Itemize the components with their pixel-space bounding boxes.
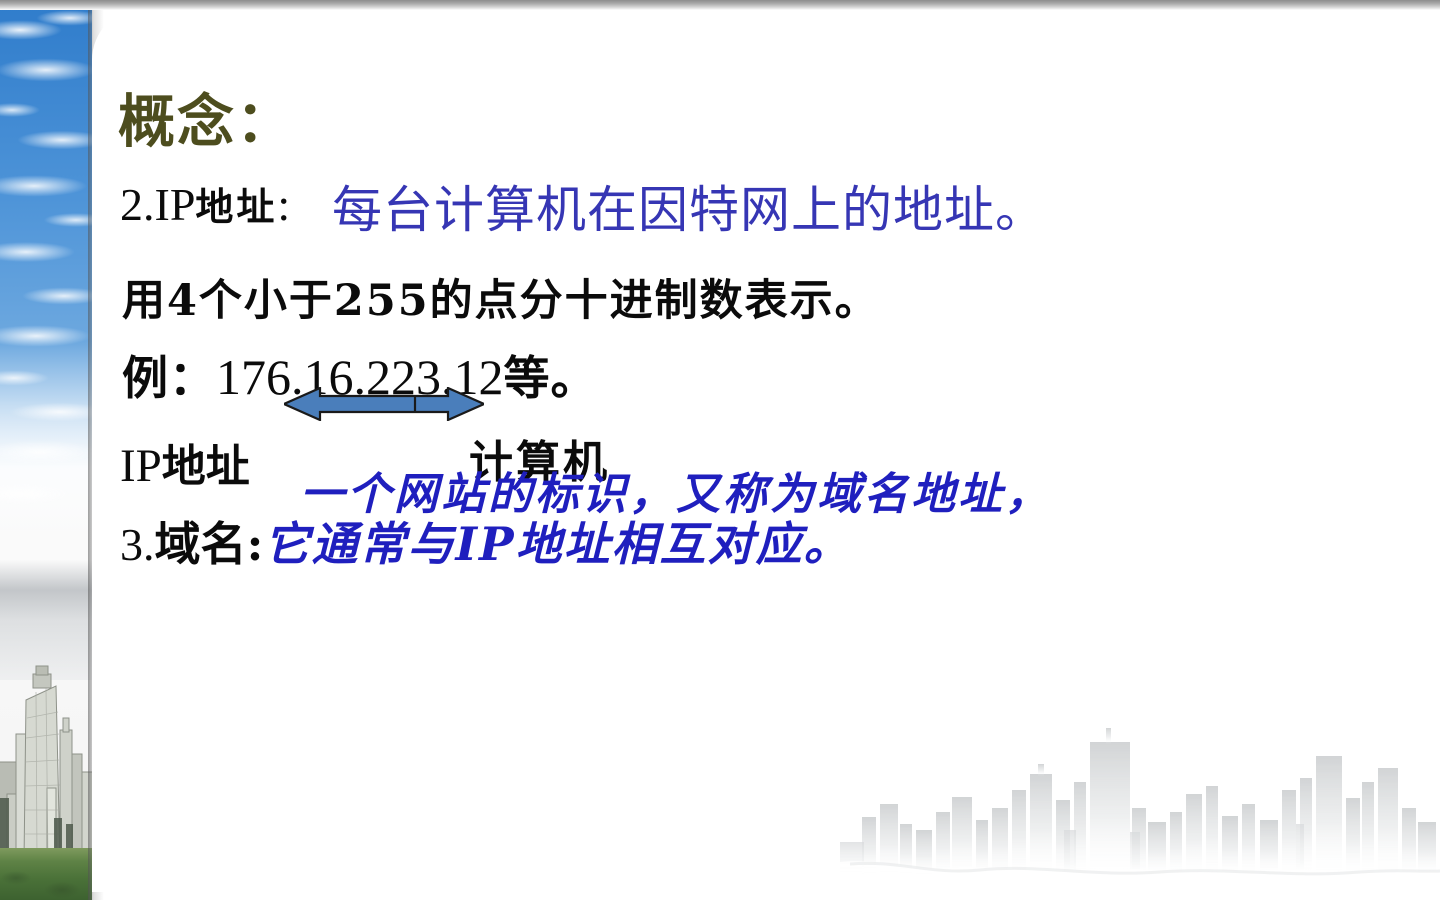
strip-grass — [0, 848, 92, 900]
domain-definition-part2: 它通常与IP地址相互对应。 — [263, 517, 851, 571]
double-headed-arrow — [284, 387, 484, 421]
slide-canvas: 概念： 2.IP地址: 每台计算机在因特网上的地址。 用4个小于255的点分十进… — [0, 0, 1440, 900]
ip-address-label: IP地址 — [120, 430, 250, 494]
content-panel: 概念： 2.IP地址: 每台计算机在因特网上的地址。 用4个小于255的点分十进… — [92, 8, 1440, 892]
ip-label-han: 地址 — [162, 441, 250, 492]
item-3-label: 域名: — [155, 517, 264, 571]
notation-rule: 用4个小于255的点分十进制数表示。 — [122, 266, 880, 328]
double-headed-arrow-icon — [284, 387, 484, 421]
item-2-definition: 每台计算机在因特网上的地址。 — [332, 170, 1046, 242]
ip-label-latin: IP — [120, 440, 162, 492]
item-2-label-han: 地址 — [195, 184, 277, 229]
strip-city-svg — [0, 622, 92, 862]
slide-text-content: 概念： 2.IP地址: 每台计算机在因特网上的地址。 用4个小于255的点分十进… — [92, 8, 1440, 892]
item-2-colon: : — [277, 179, 290, 230]
top-accent-bar — [0, 0, 1440, 10]
item-2-number-latin: 2.IP — [120, 179, 195, 230]
item-2-label: 2.IP地址: — [120, 176, 290, 231]
clouds-overlay — [0, 0, 92, 560]
example-suffix: 等。 — [504, 351, 598, 405]
item-3-number: 3. — [120, 519, 155, 570]
strip-city-buildings — [0, 622, 92, 862]
page-title: 概念： — [118, 76, 295, 158]
item-3-line: 3.域名:它通常与IP地址相互对应。 — [120, 508, 852, 574]
example-prefix: 例： — [122, 351, 216, 405]
left-photo-strip — [0, 0, 92, 900]
